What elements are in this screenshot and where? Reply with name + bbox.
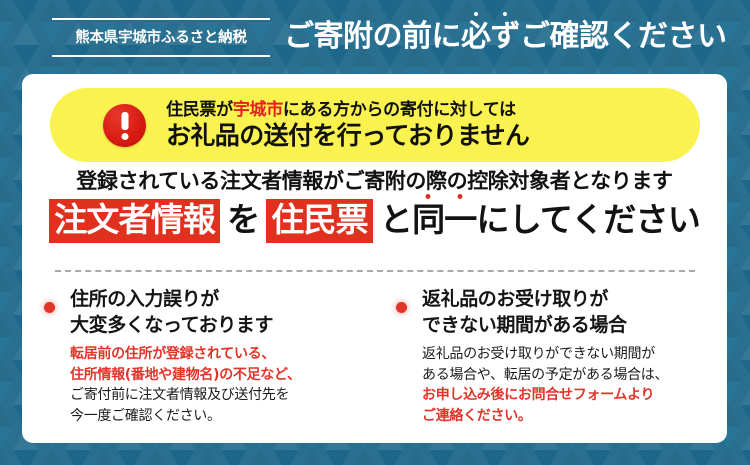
brand-rule-bottom — [52, 55, 270, 57]
statement-highlight-order-info: 注文者情報 — [49, 199, 220, 243]
red-dot-bullet-icon — [396, 302, 407, 313]
column-body-line: 返礼品のお受け取りができない期間が — [422, 344, 718, 365]
column-body-line: 今一度ご確認ください。 — [70, 406, 366, 427]
column-heading-line-1: 返礼品のお受け取りが — [422, 286, 718, 312]
alert-text-block: 住民票が宇城市にある方からの寄付に対しては お礼品の送付を行っておりません — [166, 100, 529, 151]
brand-text: 熊本県宇城市ふるさと納税 — [52, 27, 270, 49]
page-title-emphasis-2: ず — [491, 19, 521, 55]
page-title-suffix: ご確認ください — [520, 19, 727, 55]
alert-line1-suffix: にある方からの寄付に対しては — [283, 100, 516, 120]
statement-highlight-residence: 住民票 — [266, 199, 373, 243]
column-heading-line-1: 住所の入力誤りが — [70, 286, 366, 312]
alert-line-2: お礼品の送付を行っておりません — [166, 121, 529, 151]
statement-line-1: 登録されている注文者情報がご寄附の際の控除対象者となります — [22, 168, 727, 195]
exclamation-icon — [103, 104, 146, 147]
column-body: 転居前の住所が登録されている、 住所情報(番地や建物名)の不足など、 ご寄付前に… — [70, 344, 366, 426]
statement-particle: を — [227, 198, 259, 242]
statement-block: 登録されている注文者情報がご寄附の際の控除対象者となります 注文者情報を住民票と… — [22, 168, 727, 243]
alert-line1-highlight: 宇城市 — [233, 100, 283, 120]
notice-columns: 住所の入力誤りが 大変多くなっております 転居前の住所が登録されている、 住所情… — [22, 286, 727, 426]
banner-header: 熊本県宇城市ふるさと納税 ご寄附の前に必ずご確認ください — [0, 0, 750, 74]
notice-card: 住民票が宇城市にある方からの寄付に対しては お礼品の送付を行っておりません 登録… — [22, 74, 727, 443]
brand-rule-top — [52, 18, 270, 20]
dashed-divider — [55, 270, 695, 272]
column-body-line: 転居前の住所が登録されている、 — [70, 344, 366, 365]
column-body: 返礼品のお受け取りができない期間が ある場合や、転居の予定がある場合は、 お申し… — [422, 344, 718, 426]
column-body-line: ある場合や、転居の予定がある場合は、 — [422, 365, 718, 386]
page-title-emphasis-1: 必 — [461, 19, 491, 55]
statement-emphasis-2: 一 — [444, 198, 476, 242]
page-title: ご寄附の前に必ずご確認ください — [284, 19, 727, 55]
column-heading-line-2: 大変多くなっております — [70, 312, 366, 338]
alert-banner: 住民票が宇城市にある方からの寄付に対しては お礼品の送付を行っておりません — [50, 88, 700, 162]
statement-emphasis-1: 同 — [412, 198, 444, 242]
alert-line1-prefix: 住民票が — [166, 100, 233, 120]
statement-line-2: 注文者情報を住民票と同一にしてください — [22, 198, 727, 243]
column-body-line: ご連絡ください。 — [422, 406, 718, 427]
statement-mid: と — [380, 198, 412, 242]
red-dot-bullet-icon — [44, 302, 55, 313]
notice-column-address: 住所の入力誤りが 大変多くなっております 転居前の住所が登録されている、 住所情… — [22, 286, 374, 426]
column-body-line: ご寄付前に注文者情報及び送付先を — [70, 385, 366, 406]
page-title-prefix: ご寄附の前に — [284, 19, 461, 55]
exclamation-dot — [121, 133, 128, 140]
column-body-line: お申し込み後にお問合せフォームより — [422, 385, 718, 406]
alert-line-1: 住民票が宇城市にある方からの寄付に対しては — [166, 100, 529, 121]
statement-tail: にしてください — [477, 198, 700, 242]
exclamation-bar — [121, 112, 128, 130]
brand-block: 熊本県宇城市ふるさと納税 — [52, 18, 270, 57]
column-heading-line-2: できない期間がある場合 — [422, 312, 718, 338]
column-body-line: 住所情報(番地や建物名)の不足など、 — [70, 365, 366, 386]
notice-column-delivery: 返礼品のお受け取りが できない期間がある場合 返礼品のお受け取りができない期間が… — [374, 286, 726, 426]
